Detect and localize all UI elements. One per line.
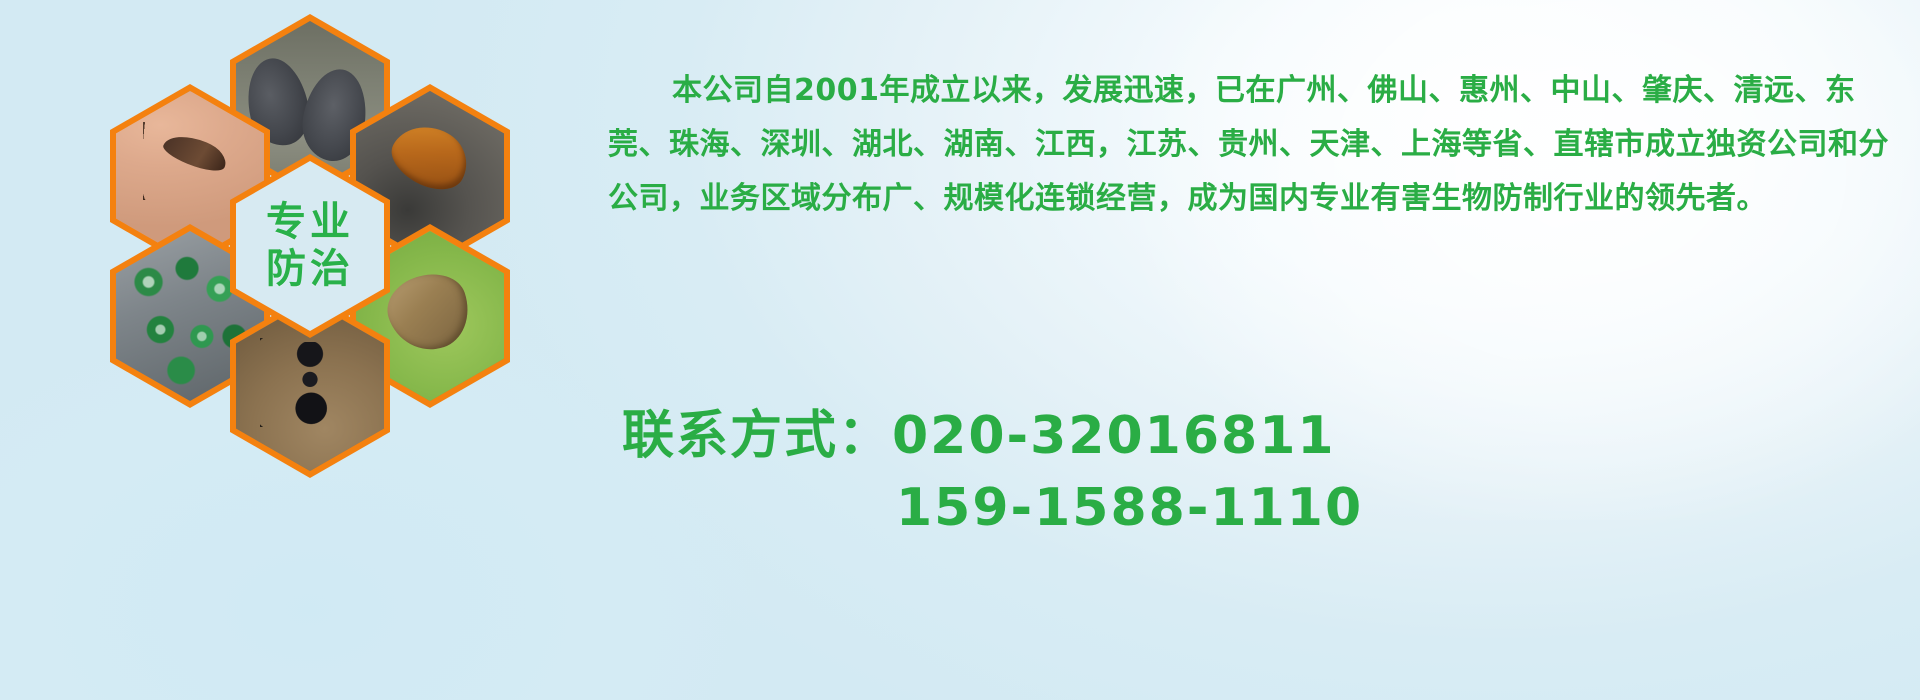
slogan-line-1: 专业: [266, 199, 354, 245]
contact-block: 联系方式：020-32016811 159-1588-1110: [608, 400, 1908, 544]
contact-phone-secondary[interactable]: 159-1588-1110: [608, 472, 1908, 544]
contact-phone-primary[interactable]: 联系方式：020-32016811: [608, 400, 1908, 472]
company-description: 本公司自2001年成立以来，发展迅速，已在广州、佛山、惠州、中山、肇庆、清远、东…: [608, 64, 1908, 226]
slogan-line-2: 防治: [266, 246, 354, 292]
pest-honeycomb-gallery: 专业防治: [88, 6, 588, 566]
company-intro-banner: 专业防治 本公司自2001年成立以来，发展迅速，已在广州、佛山、惠州、中山、肇庆…: [0, 0, 1920, 700]
banner-content: 本公司自2001年成立以来，发展迅速，已在广州、佛山、惠州、中山、肇庆、清远、东…: [608, 0, 1920, 700]
slogan-text: 专业防治: [266, 199, 354, 293]
